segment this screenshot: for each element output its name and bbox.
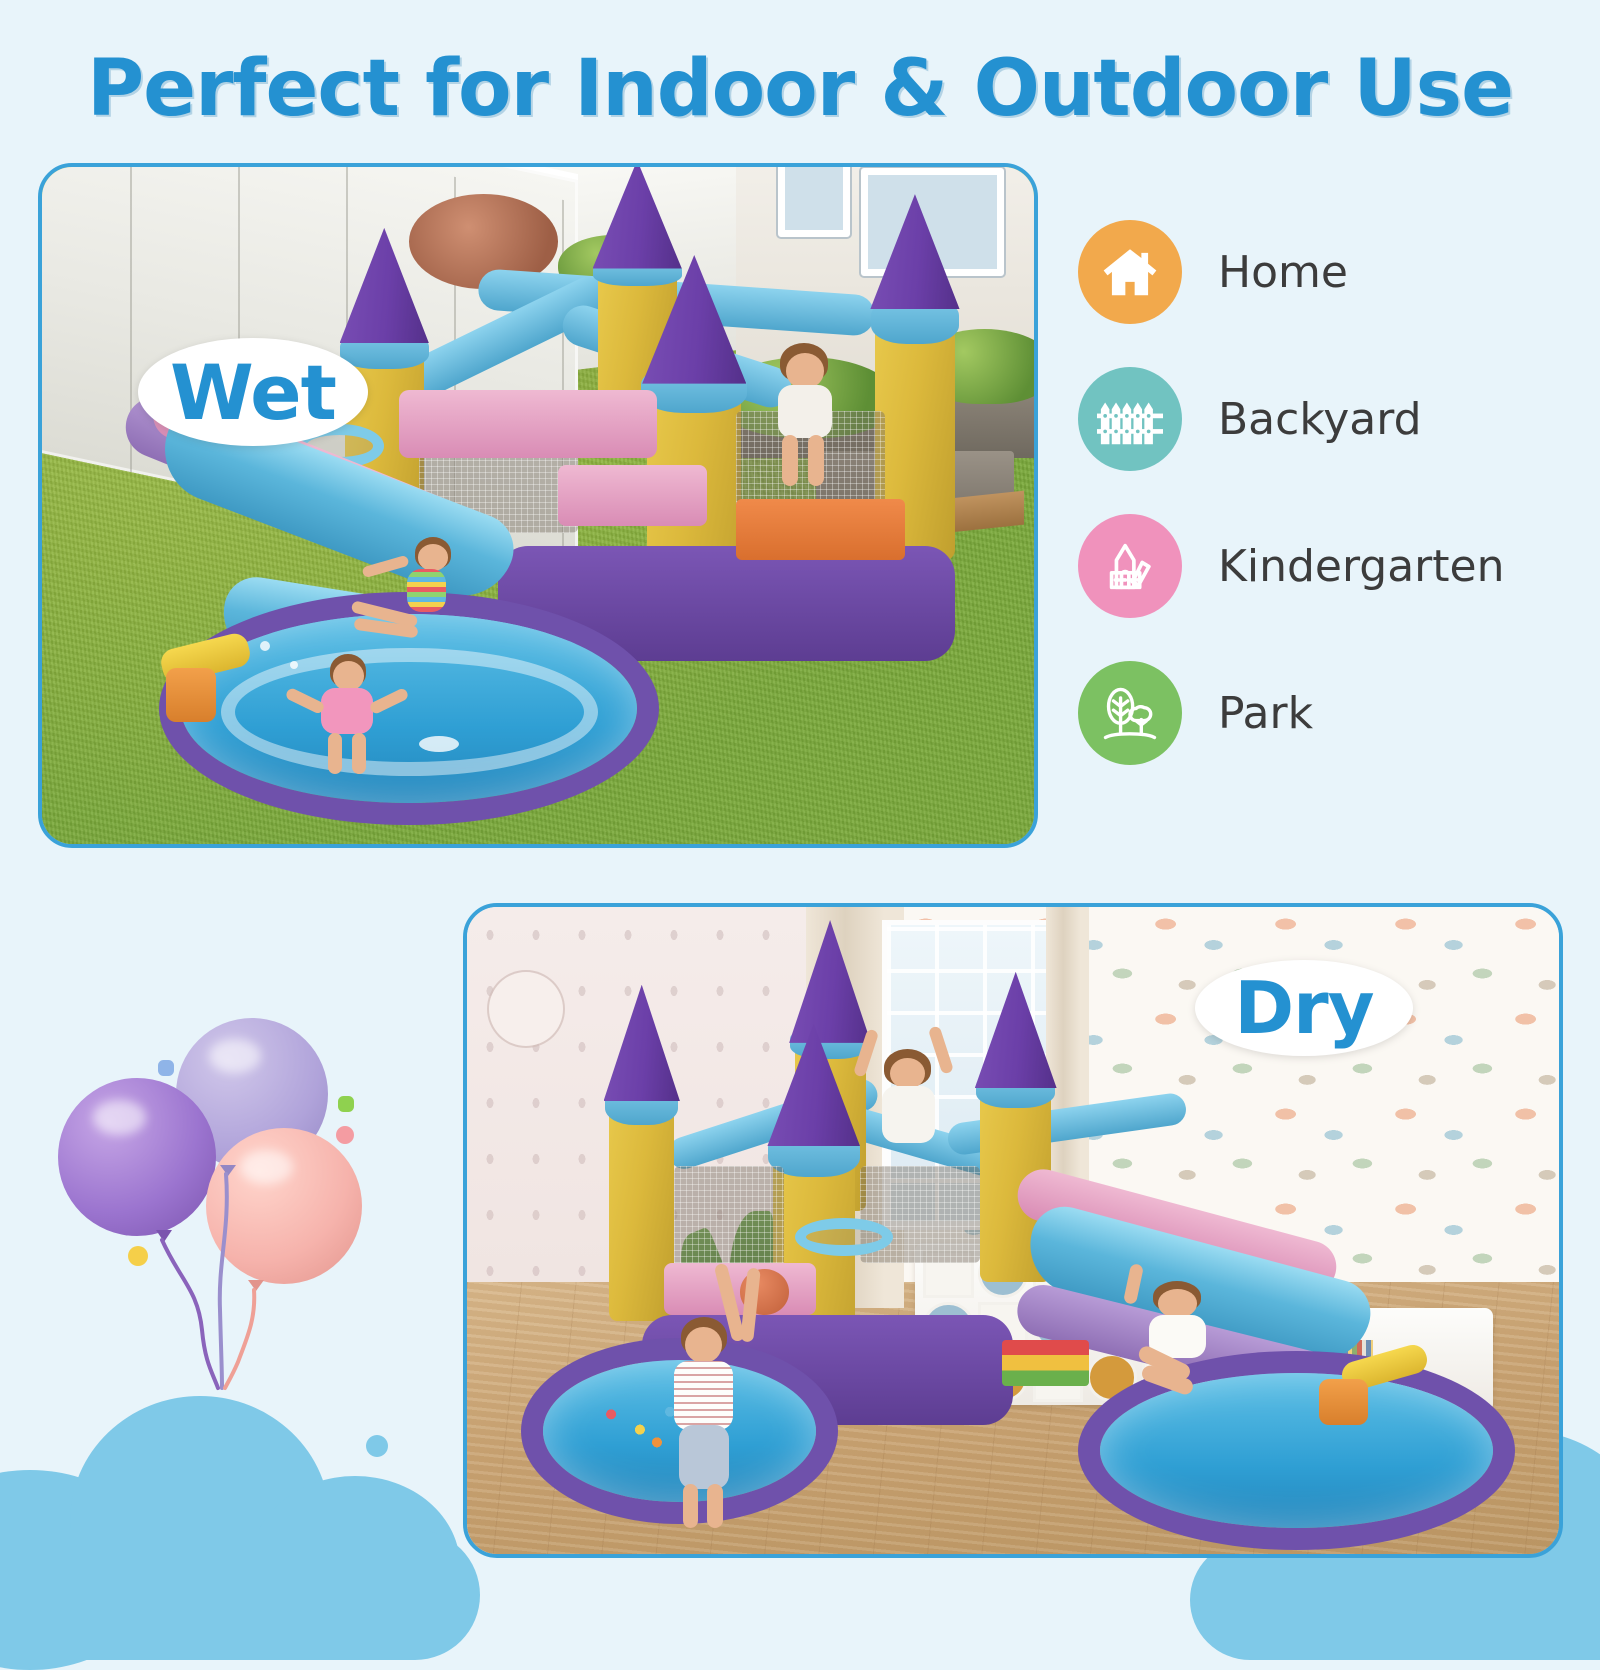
- castle-cone-roof: [789, 920, 871, 1043]
- child-shirt: [778, 385, 832, 439]
- outdoor-scene-panel: [38, 163, 1038, 848]
- balloon-knot: [156, 1230, 172, 1242]
- child-arm: [368, 687, 410, 716]
- child-head: [890, 1058, 925, 1089]
- outdoor-photo: [42, 167, 1034, 844]
- rainbow-stripe: [1002, 1340, 1089, 1385]
- fence-icon: [1097, 390, 1163, 448]
- castle-cone-roof: [340, 228, 429, 343]
- child-arm: [285, 687, 327, 716]
- child-on-slide: [1122, 1269, 1242, 1411]
- water-sprayer-base: [1319, 1379, 1368, 1424]
- child-leg: [782, 435, 798, 486]
- castle-cone-roof: [593, 163, 682, 269]
- trees-icon-circle: [1078, 661, 1182, 765]
- fence-icon-circle: [1078, 367, 1182, 471]
- child-head: [685, 1327, 722, 1364]
- green-star: [338, 1096, 354, 1112]
- pink-dot: [336, 1126, 354, 1144]
- child-head: [418, 544, 449, 571]
- castle-cone-roof: [975, 972, 1057, 1088]
- child-on-castle: [860, 1023, 958, 1165]
- yellow-dot: [128, 1246, 148, 1266]
- blue-star: [158, 1060, 174, 1076]
- castle-wall-pink: [558, 465, 707, 526]
- water-splash: [419, 736, 459, 752]
- child-leg: [328, 733, 342, 774]
- feature-item-kindergarten: Kindergarten: [1078, 502, 1590, 630]
- child-head: [1158, 1289, 1196, 1317]
- basketball-hoop: [795, 1218, 893, 1257]
- child-leg: [683, 1484, 698, 1528]
- pink-balloon: [206, 1128, 362, 1284]
- child-jeans: [679, 1425, 729, 1489]
- balloon-decoration: [30, 990, 400, 1400]
- feature-label: Home: [1218, 247, 1348, 298]
- wet-badge-label: Wet: [170, 348, 336, 437]
- feature-label: Backyard: [1218, 394, 1422, 445]
- child-arm: [1123, 1263, 1144, 1305]
- child-in-bouncer: [756, 343, 855, 492]
- trees-icon: [1098, 682, 1162, 744]
- child-leg: [352, 733, 366, 774]
- child-swimsuit: [407, 569, 446, 613]
- child-on-slide: [359, 539, 498, 661]
- feature-label: Park: [1218, 688, 1313, 739]
- feature-item-backyard: Backyard: [1078, 355, 1590, 483]
- purple-balloon: [58, 1078, 216, 1236]
- balloon-knot: [220, 1165, 236, 1176]
- playground-icon-circle: [1078, 514, 1182, 618]
- dry-badge: Dry: [1195, 960, 1413, 1056]
- wet-badge: Wet: [138, 338, 368, 446]
- use-case-feature-list: Home: [1078, 208, 1590, 796]
- feature-item-home: Home: [1078, 208, 1590, 336]
- feature-label: Kindergarten: [1218, 541, 1504, 592]
- child-striped-shirt: [674, 1361, 733, 1430]
- water-sprayer-base: [166, 668, 216, 722]
- home-icon: [1099, 241, 1161, 303]
- child-arm: [362, 555, 410, 579]
- page-title: Perfect for Indoor & Outdoor Use: [0, 44, 1600, 134]
- child-standing: [664, 1282, 773, 1528]
- bottom-left-cloud-decoration: [0, 1380, 480, 1610]
- home-icon-circle: [1078, 220, 1182, 324]
- inflatable-water-castle: [42, 167, 1034, 844]
- child-leg: [707, 1484, 722, 1528]
- feature-item-park: Park: [1078, 649, 1590, 777]
- castle-cone-roof: [870, 194, 959, 309]
- bounce-floor-orange: [736, 499, 905, 560]
- child-head: [333, 661, 364, 691]
- child-leg: [808, 435, 824, 486]
- child-shirt: [321, 688, 373, 734]
- child-arm: [928, 1026, 954, 1076]
- castle-wall-pink: [399, 390, 657, 458]
- safety-mesh-net: [674, 1166, 783, 1270]
- child-head: [786, 353, 824, 389]
- dry-badge-label: Dry: [1234, 966, 1373, 1050]
- child-in-pool: [290, 654, 409, 789]
- balloon-knot: [248, 1280, 264, 1291]
- child-shirt: [882, 1086, 935, 1143]
- playground-icon: [1099, 535, 1161, 597]
- castle-cone-roof: [604, 985, 680, 1101]
